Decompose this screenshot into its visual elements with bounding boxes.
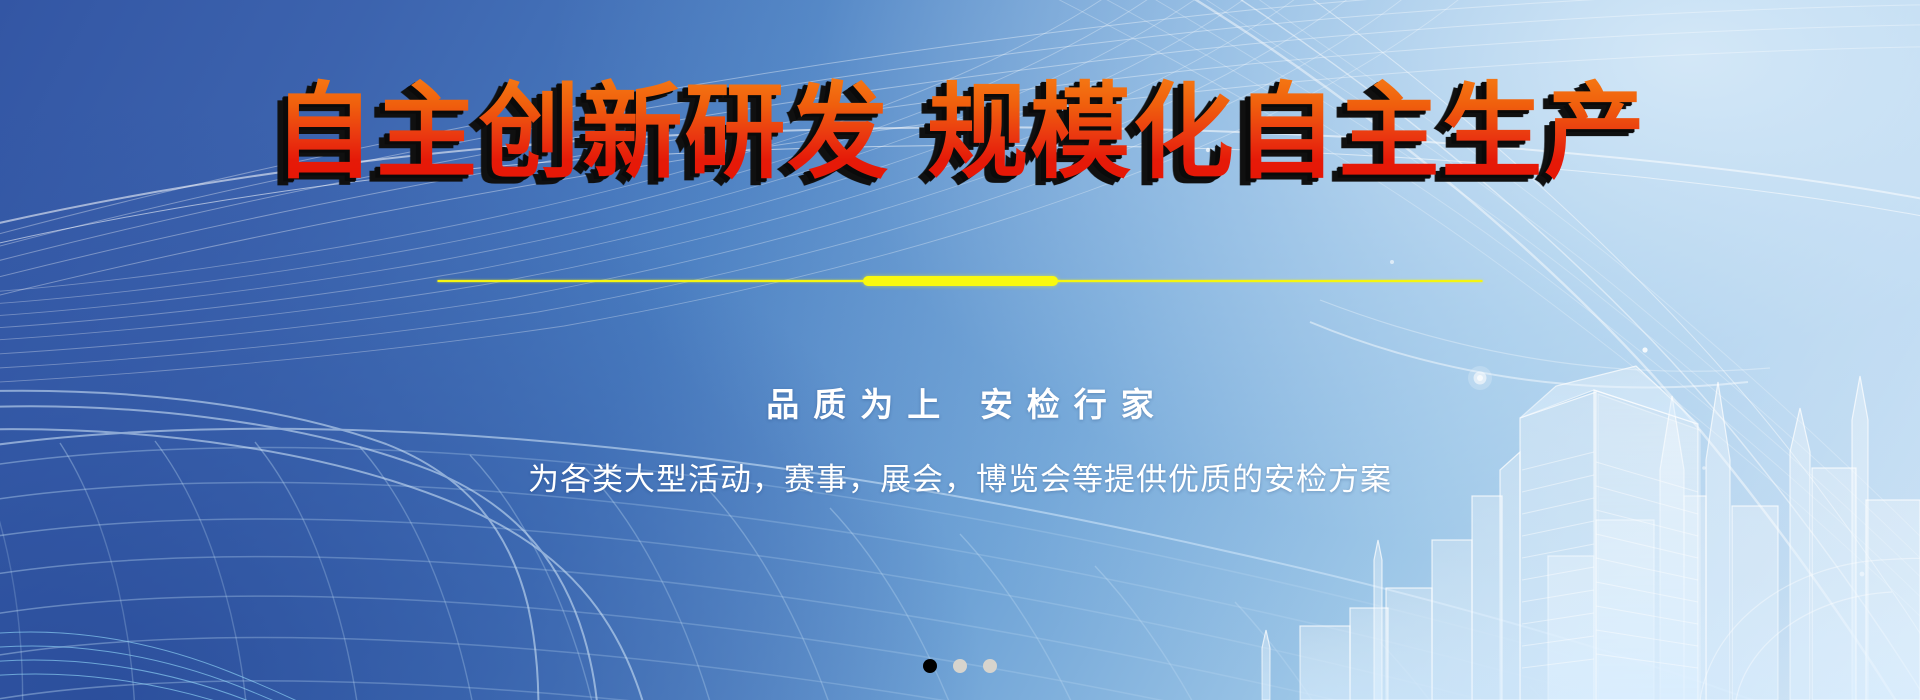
banner-description: 为各类大型活动，赛事，展会，博览会等提供优质的安检方案 [0, 454, 1920, 499]
carousel-dot-1[interactable] [923, 659, 937, 673]
headline-container: 自主创新研发 规模化自主生产 [0, 74, 1920, 190]
carousel-dot-2[interactable] [953, 659, 967, 673]
yellow-divider [438, 276, 1483, 286]
divider-thick-segment [863, 276, 1058, 286]
banner-slogan: 品质为上 安检行家 [0, 378, 1920, 426]
carousel-dot-3[interactable] [983, 659, 997, 673]
hero-banner-slide: 自主创新研发 规模化自主生产 品质为上 安检行家 为各类大型活动，赛事，展会，博… [0, 0, 1920, 700]
subcopy-container: 品质为上 安检行家 为各类大型活动，赛事，展会，博览会等提供优质的安检方案 [0, 378, 1920, 499]
banner-headline: 自主创新研发 规模化自主生产 [273, 74, 1647, 190]
carousel-pagination[interactable] [923, 659, 997, 673]
